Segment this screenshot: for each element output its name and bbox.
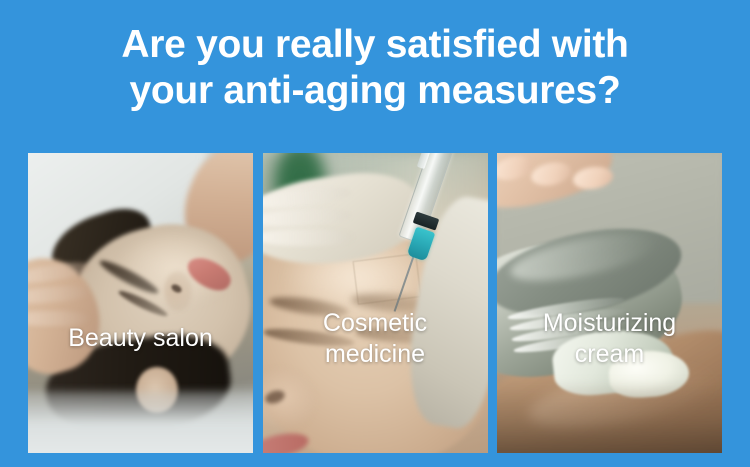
panel-caption-moisturizing-cream: Moisturizing cream	[497, 308, 722, 370]
moisturizing-cream-photo	[497, 153, 722, 453]
beauty-salon-photo	[28, 153, 253, 453]
panel-beauty-salon[interactable]: Beauty salon	[28, 153, 253, 453]
cosmetic-medicine-photo	[263, 153, 488, 453]
panel-moisturizing-cream[interactable]: Moisturizing cream	[497, 153, 722, 453]
page-title: Are you really satisfied with your anti-…	[0, 22, 750, 114]
panel-row: Beauty salon	[28, 153, 722, 453]
panel-cosmetic-medicine[interactable]: Cosmetic medicine	[263, 153, 488, 453]
panel-caption-cosmetic-medicine: Cosmetic medicine	[263, 308, 488, 370]
panel-caption-beauty-salon: Beauty salon	[28, 323, 253, 354]
promo-banner: Are you really satisfied with your anti-…	[0, 0, 750, 467]
